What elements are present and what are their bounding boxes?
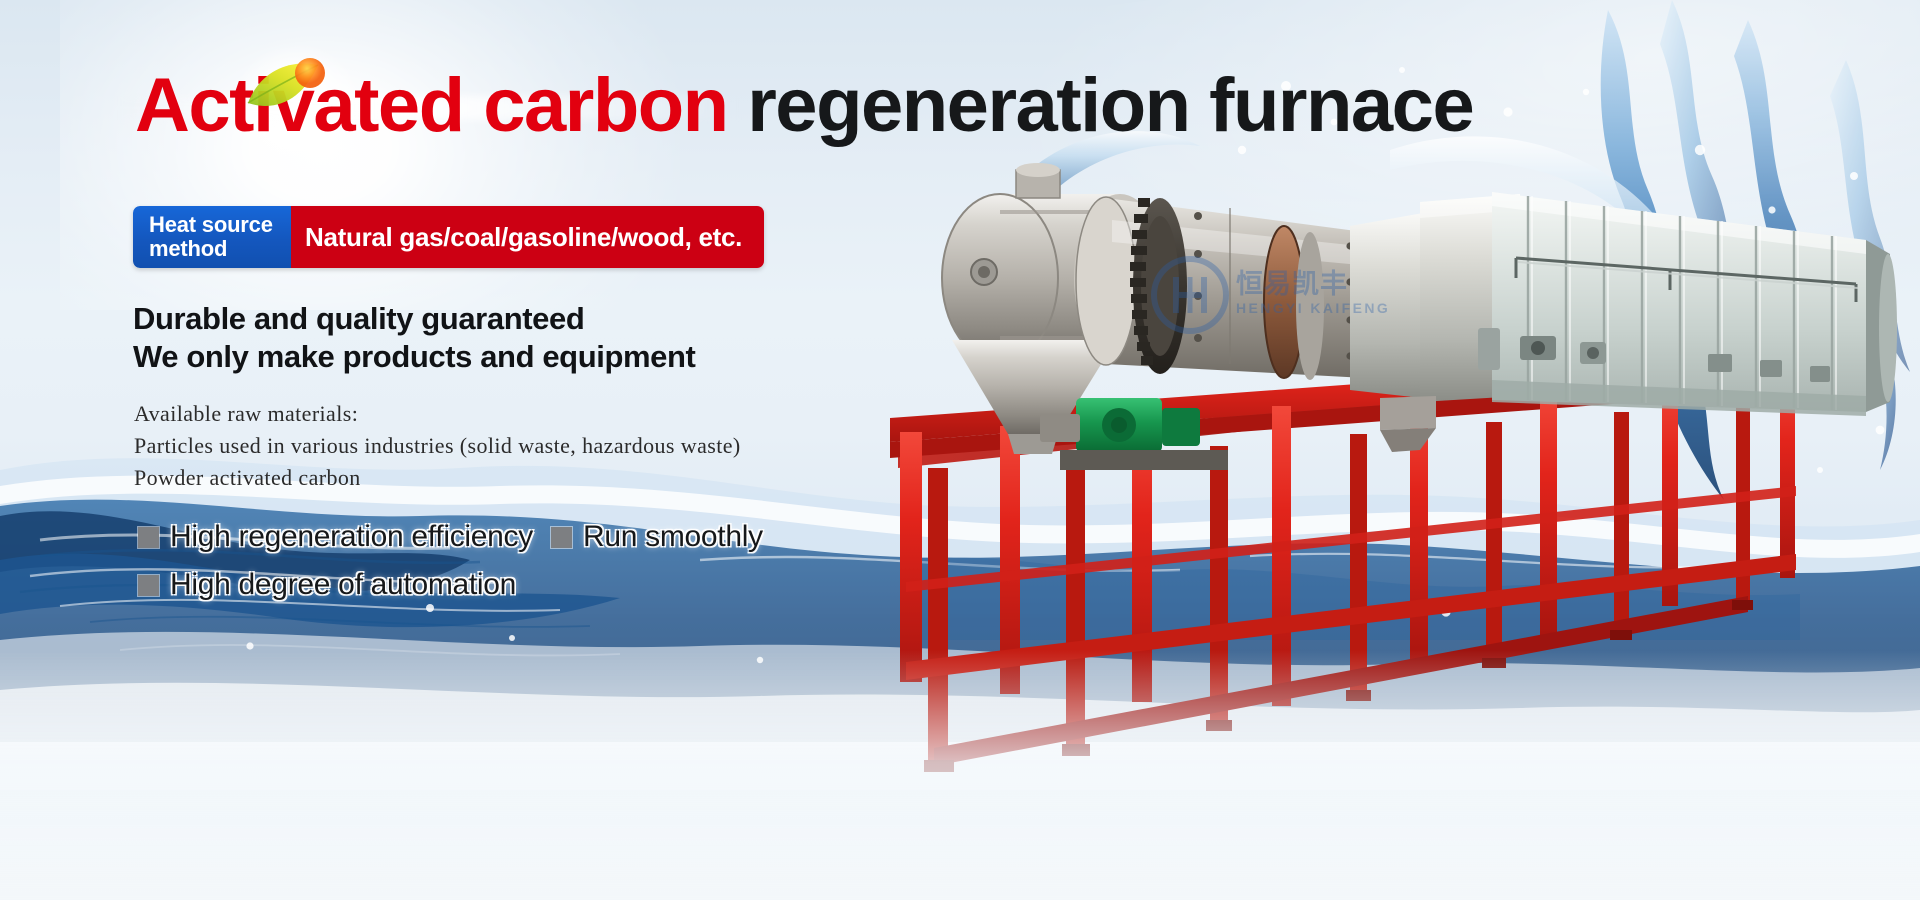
- raw-materials-item-1: Particles used in various industries (so…: [134, 430, 741, 461]
- quality-promise-line1: Durable and quality guaranteed: [133, 300, 695, 338]
- heat-source-tag-line1: Heat source: [149, 213, 277, 237]
- heat-source-value: Natural gas/coal/gasoline/wood, etc.: [291, 206, 764, 268]
- feature-label: High degree of automation: [170, 568, 516, 602]
- quality-promise: Durable and quality guaranteed We only m…: [133, 300, 695, 377]
- feature-list: High regeneration efficiency Run smoothl…: [138, 520, 898, 616]
- heat-source-banner: Heat source method Natural gas/coal/gaso…: [133, 206, 764, 268]
- feature-item-regeneration-efficiency: High regeneration efficiency: [138, 520, 533, 554]
- raw-materials-spec: Available raw materials: Particles used …: [134, 398, 741, 495]
- page-title-highlight: Activated carbon: [135, 63, 728, 148]
- furnace-shell-cabinet: [1350, 192, 1897, 416]
- quality-promise-line2: We only make products and equipment: [133, 338, 695, 376]
- raw-materials-heading: Available raw materials:: [134, 398, 741, 429]
- raw-materials-item-2: Powder activated carbon: [134, 462, 741, 493]
- feature-item-automation: High degree of automation: [138, 568, 516, 602]
- square-bullet-icon: [138, 575, 159, 596]
- heat-source-tag: Heat source method: [133, 206, 291, 268]
- heat-source-tag-line2: method: [149, 237, 277, 261]
- page-title: Activated carbon regeneration furnace: [135, 68, 1473, 144]
- feature-item-run-smoothly: Run smoothly: [551, 520, 763, 554]
- feature-label: High regeneration efficiency: [170, 520, 533, 554]
- square-bullet-icon: [551, 527, 572, 548]
- control-box: [1478, 328, 1500, 370]
- promo-banner-stage: 恒易凯丰 HENGYI KAIFENG Activated carbon reg…: [0, 0, 1920, 900]
- feature-label: Run smoothly: [583, 520, 763, 554]
- feature-row-2: High degree of automation: [138, 568, 898, 602]
- page-title-rest: regeneration furnace: [728, 63, 1474, 148]
- promo-copy-block: Activated carbon regeneration furnace: [0, 0, 900, 900]
- feature-row-1: High regeneration efficiency Run smoothl…: [138, 520, 898, 554]
- square-bullet-icon: [138, 527, 159, 548]
